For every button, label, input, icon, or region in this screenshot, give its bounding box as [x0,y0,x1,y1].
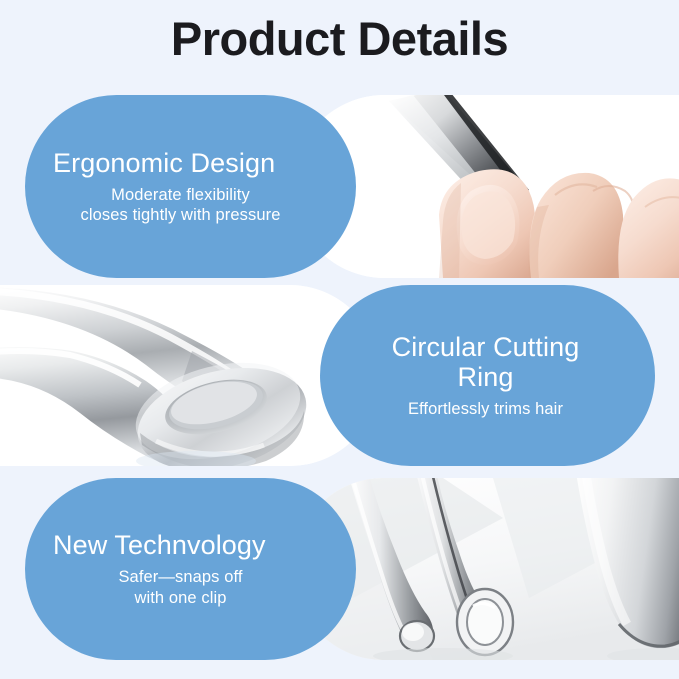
feature-pill-new-technvology: New Technvology Safer—snaps off with one… [25,478,356,660]
feature-pill-ergonomic-design: Ergonomic Design Moderate flexibility cl… [25,95,356,278]
feature-subtitle-ergonomic-design: Moderate flexibility closes tightly with… [49,185,336,225]
feature-panel-ergonomic-design: Ergonomic Design Moderate flexibility cl… [0,95,679,278]
page-title: Product Details [0,14,679,63]
feature-pill-circular-cutting-ring: Circular Cutting Ring Effortlessly trims… [320,285,655,466]
feature-title-new-technvology: New Technvology [49,530,336,560]
product-details-infographic: Product Details [0,0,679,679]
feature-panel-new-technvology: New Technvology Safer—snaps off with one… [0,478,679,660]
feature-subtitle-circular-cutting-ring: Effortlessly trims hair [342,399,629,419]
feature-subtitle-new-technvology: Safer—snaps off with one clip [49,567,336,607]
feature-title-ergonomic-design: Ergonomic Design [49,148,336,178]
feature-panel-circular-cutting-ring: Circular Cutting Ring Effortlessly trims… [0,285,679,466]
feature-title-circular-cutting-ring: Circular Cutting Ring [342,332,629,392]
